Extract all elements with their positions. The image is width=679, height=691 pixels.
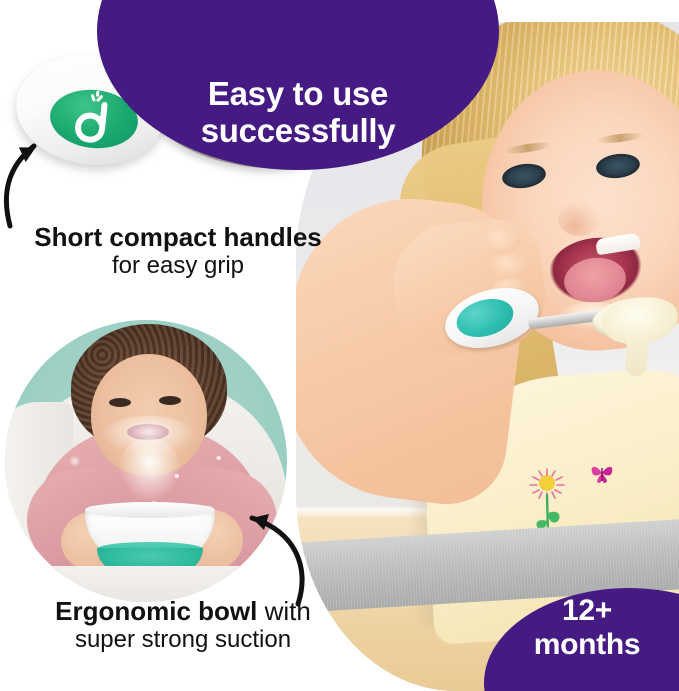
feature-handles-subline: for easy grip [4, 252, 352, 280]
arrow-to-bowl-icon [216, 498, 326, 610]
feature-bowl-subline: super strong suction [16, 626, 350, 654]
banner-text: Easy to use successfully [201, 76, 396, 170]
feature-bowl-headline: Ergonomic bowl with [16, 596, 350, 626]
feature-caption-handles: Short compact handles for easy grip [4, 222, 352, 280]
embroidered-flower-icon [524, 465, 570, 535]
knuckle [484, 228, 520, 254]
yoghurt-drip [624, 331, 649, 376]
feature-handles-headline: Short compact handles [4, 222, 352, 252]
knuckle [492, 254, 528, 280]
arrow-to-handle-icon [0, 118, 108, 230]
child-nose [558, 202, 600, 236]
food-on-chest [119, 438, 181, 500]
age-badge-text: 12+ months [512, 594, 662, 662]
infographic-canvas: Easy to use successfully Short compact h… [0, 0, 679, 691]
embroidered-butterfly-icon [589, 462, 615, 484]
bowl-rim [85, 502, 215, 518]
baby-eye-left [109, 398, 131, 407]
feature-caption-bowl: Ergonomic bowl with super strong suction [16, 596, 350, 654]
baby-eye-right [159, 396, 181, 405]
